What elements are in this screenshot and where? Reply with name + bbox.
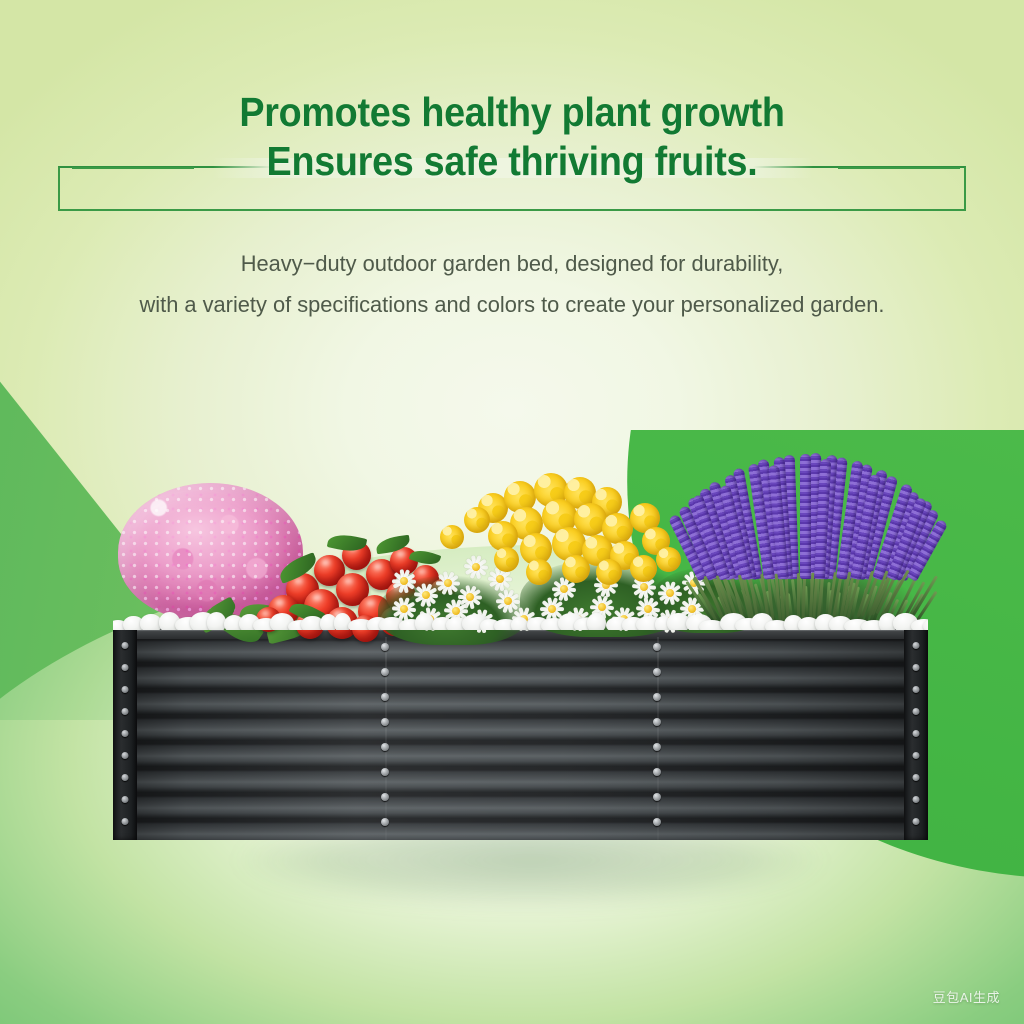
rivet (653, 743, 661, 751)
rivet (381, 743, 389, 751)
pebble (207, 612, 227, 630)
rivet (913, 708, 920, 715)
rivet (122, 774, 129, 781)
rivet (381, 643, 389, 651)
pebble (511, 617, 528, 630)
rivet (653, 693, 661, 701)
headline-line-1: Promotes healthy plant growth (41, 88, 983, 137)
pebble (415, 613, 434, 630)
rivet (122, 752, 129, 759)
rivet (381, 693, 389, 701)
yellow-mum (440, 525, 464, 549)
rivet (122, 642, 129, 649)
rivet (122, 796, 129, 803)
rivet (913, 642, 920, 649)
rivet (913, 730, 920, 737)
subcopy: Heavy−duty outdoor garden bed, designed … (15, 243, 1008, 325)
rivet (653, 668, 661, 676)
yellow-mum (656, 547, 681, 572)
rivet (653, 643, 661, 651)
rivet (122, 730, 129, 737)
yellow-mum (630, 555, 657, 582)
lavender-bush (690, 455, 952, 625)
product-banner: Promotes healthy plant growth Ensures sa… (0, 0, 1024, 1024)
raised-garden-bed (113, 622, 928, 840)
corner-post-left (113, 622, 137, 840)
yellow-mum (596, 559, 622, 585)
headline-line-2: Ensures safe thriving fruits. (267, 137, 758, 186)
rivet (653, 793, 661, 801)
frame-dash-left (72, 167, 194, 169)
rivet (653, 718, 661, 726)
headline: Promotes healthy plant growth Ensures sa… (41, 88, 983, 186)
daisy-flower (462, 553, 490, 581)
rivet (381, 818, 389, 826)
rivet (122, 818, 129, 825)
corner-post-right (904, 622, 928, 840)
yellow-mum (526, 559, 552, 585)
rivet (122, 686, 129, 693)
rivet (913, 818, 920, 825)
watermark: 豆包AI生成 (933, 987, 1000, 1006)
rivet (913, 796, 920, 803)
yellow-mum (562, 555, 590, 583)
rivet (381, 668, 389, 676)
rivet (381, 793, 389, 801)
rivet (381, 768, 389, 776)
yellow-mum (464, 507, 490, 533)
lavender-spike (800, 454, 811, 579)
rivet-column (653, 637, 661, 840)
rivet (913, 774, 920, 781)
rivet (381, 718, 389, 726)
rivet (913, 664, 920, 671)
rivet (913, 686, 920, 693)
rivet (122, 708, 129, 715)
yellow-mum (494, 547, 519, 572)
rivet-column (381, 637, 389, 840)
subcopy-line-1: Heavy−duty outdoor garden bed, designed … (15, 243, 1008, 284)
rivet (122, 664, 129, 671)
rivet (913, 752, 920, 759)
corrugated-panel (113, 637, 928, 840)
rivet (653, 818, 661, 826)
subcopy-line-2: with a variety of specifications and col… (15, 284, 1008, 325)
rivet (653, 768, 661, 776)
pebble-mulch (113, 604, 928, 630)
pebble (587, 613, 605, 630)
frame-dash-right (838, 167, 960, 169)
